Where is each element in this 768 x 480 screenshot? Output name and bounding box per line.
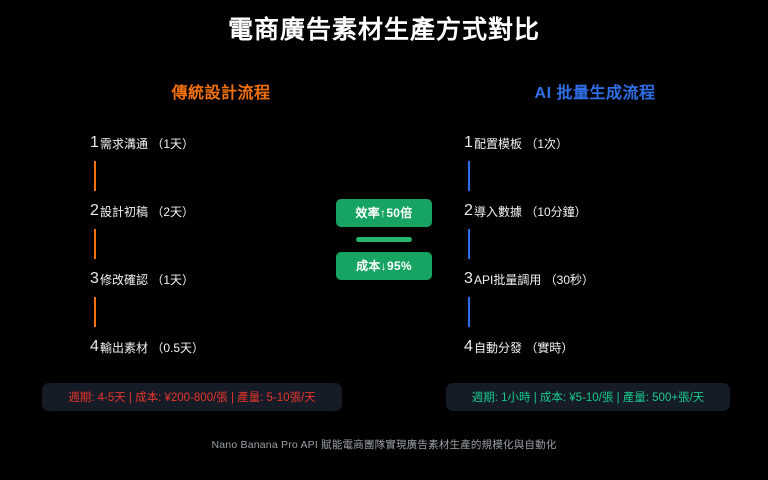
step-number: 4 (430, 338, 464, 356)
step-connector-line (468, 161, 470, 191)
list-item: 4 自動分發 （實時） (430, 336, 760, 358)
page-title: 電商廣告素材生產方式對比 (0, 10, 768, 46)
step-label: 配置模板 （1次） (464, 135, 568, 152)
step-connector-line (94, 229, 96, 259)
step-connector-line (468, 297, 470, 327)
step-connector-line (94, 297, 96, 327)
list-item: 1 需求溝通 （1天） (56, 132, 386, 154)
left-column-header: 傳統設計流程 (56, 79, 386, 103)
step-label: 導入數據 （10分鐘） (464, 203, 587, 220)
step-number: 1 (430, 134, 464, 152)
ai-summary-bar: 週期: 1小時 | 成本: ¥5-10/張 | 產量: 500+張/天 (446, 383, 730, 411)
traditional-summary-bar: 週期: 4-5天 | 成本: ¥200-800/張 | 產量: 5-10張/天 (42, 383, 342, 411)
step-number: 3 (430, 270, 464, 288)
slide-canvas: 電商廣告素材生產方式對比 傳統設計流程 AI 批量生成流程 1 需求溝通 （1天… (0, 0, 768, 480)
step-connector-line (468, 229, 470, 259)
list-item: 4 輸出素材 （0.5天） (56, 336, 386, 358)
comparison-badges: 效率↑50倍 成本↓95% (336, 199, 432, 280)
step-number: 2 (430, 202, 464, 220)
step-label: 自動分發 （實時） (464, 339, 573, 356)
cost-badge: 成本↓95% (336, 252, 432, 280)
right-column-header: AI 批量生成流程 (430, 79, 760, 103)
step-number: 4 (56, 338, 90, 356)
step-label: 修改確認 （1天） (90, 271, 194, 288)
step-label: 輸出素材 （0.5天） (90, 339, 204, 356)
step-label: API批量調用 （30秒） (464, 271, 594, 288)
list-item: 1 配置模板 （1次） (430, 132, 760, 154)
step-number: 2 (56, 202, 90, 220)
step-connector-line (94, 161, 96, 191)
ai-flow-column: 1 配置模板 （1次） 2 導入數據 （10分鐘） 3 API批量調用 （30秒… (430, 128, 760, 368)
badge-connector-bar (356, 237, 412, 242)
list-item: 3 API批量調用 （30秒） (430, 268, 760, 290)
step-label: 設計初稿 （2天） (90, 203, 194, 220)
step-number: 3 (56, 270, 90, 288)
list-item: 2 導入數據 （10分鐘） (430, 200, 760, 222)
efficiency-badge: 效率↑50倍 (336, 199, 432, 227)
footer-caption: Nano Banana Pro API 賦能電商團隊實現廣告素材生產的規模化與自… (0, 437, 768, 452)
step-label: 需求溝通 （1天） (90, 135, 194, 152)
step-number: 1 (56, 134, 90, 152)
